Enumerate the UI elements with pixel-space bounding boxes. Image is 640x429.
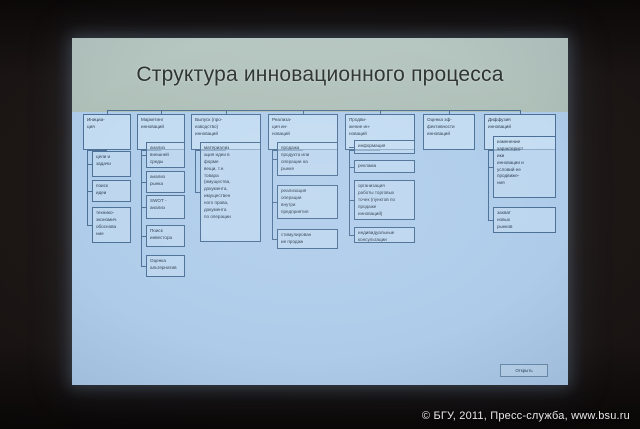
box-text-line: ного права,: [204, 200, 258, 207]
box-text-line: продаже: [358, 204, 412, 211]
header-stem: [161, 110, 162, 114]
box-text-line: продажа: [281, 145, 335, 152]
box-text-line: Выпуск (про-: [195, 117, 258, 124]
item-branch: [87, 191, 92, 192]
diagram-item-box: изменениехарактеристикиинновации иуслови…: [493, 136, 556, 198]
diagram-item-box: индивидуальныеконсультации: [354, 227, 415, 243]
box-text-line: стимулирован: [281, 232, 335, 239]
box-text-line: идеи: [96, 190, 128, 197]
item-branch: [141, 155, 146, 156]
box-text-line: форме: [204, 159, 258, 166]
column-trunk: [141, 150, 142, 266]
box-text-line: анализ: [150, 145, 182, 152]
diagram-item-box: анализвнешнейсреды: [146, 142, 185, 168]
box-text-line: Продви-: [349, 117, 412, 124]
box-text-line: рынка: [150, 181, 182, 188]
diagram-header-box: Инициа-ция: [83, 114, 131, 150]
diagram-item-box: организацияработы торговыхточек (пунктов…: [354, 180, 415, 220]
box-text-line: среды: [150, 159, 182, 166]
item-branch: [141, 266, 146, 267]
box-text-line: изводство): [195, 124, 258, 131]
box-text-line: консультации: [358, 237, 412, 243]
box-text-line: экономич.: [96, 217, 128, 224]
open-button[interactable]: Открыть: [500, 364, 548, 377]
box-text-line: фективности: [427, 124, 472, 131]
diagram-item-box: Поискинвестора: [146, 225, 185, 247]
item-branch: [349, 200, 354, 201]
box-text-line: рынке: [281, 166, 335, 173]
box-text-line: SWOT -: [150, 198, 182, 205]
box-text-line: задачи: [96, 161, 128, 168]
diagram-item-box: поискидеи: [92, 180, 131, 202]
box-text-line: анализ: [150, 205, 182, 212]
box-text-line: инвестора: [150, 235, 182, 242]
box-text-line: ния: [497, 180, 553, 187]
header-stem: [520, 110, 521, 114]
header-stem: [226, 110, 227, 114]
item-branch: [87, 164, 92, 165]
item-branch: [272, 202, 277, 203]
item-branch: [87, 225, 92, 226]
box-text-line: операции на: [281, 159, 335, 166]
box-text-line: реклама: [358, 163, 412, 170]
box-text-line: ация идеи в: [204, 152, 258, 159]
item-branch: [349, 167, 354, 168]
box-text-line: цели и: [96, 154, 128, 161]
item-branch: [141, 207, 146, 208]
diagram-item-box: технико-экономич.обоснование: [92, 207, 131, 243]
box-text-line: характерист: [497, 146, 553, 153]
diagram-item-box: анализрынка: [146, 171, 185, 193]
box-text-line: операции: [281, 195, 335, 202]
box-text-line: продукта или: [281, 152, 335, 159]
diagram-item-box: цели изадачи: [92, 151, 131, 177]
box-text-line: вещи, т.е.: [204, 166, 258, 173]
item-branch: [488, 167, 493, 168]
box-text-line: точек (пунктов по: [358, 197, 412, 204]
box-text-line: ция ин-: [272, 124, 335, 131]
diagram-item-box: продажапродукта илиоперации нарынке: [277, 142, 338, 176]
copyright-caption: © БГУ, 2011, Пресс-служба, www.bsu.ru: [422, 410, 630, 422]
box-text-line: новаций: [272, 131, 335, 138]
column-trunk: [87, 150, 88, 225]
item-branch: [141, 236, 146, 237]
box-text-line: индивидуальные: [358, 230, 412, 237]
box-text-line: инноваций: [427, 131, 472, 138]
header-stem: [107, 110, 108, 114]
box-text-line: ие продаж: [281, 239, 335, 246]
diagram-item-box: стимулирование продаж: [277, 229, 338, 249]
header-stem: [380, 110, 381, 114]
box-text-line: ние: [96, 231, 128, 238]
box-text-line: альтернатив: [150, 265, 182, 272]
box-text-line: Реализа-: [272, 117, 335, 124]
box-text-line: инноваций): [358, 211, 412, 218]
box-text-line: Инициа-: [87, 117, 128, 124]
header-stem: [449, 110, 450, 114]
diagram-item-box: реклама: [354, 160, 415, 173]
diagram-item-box: материализация идеи вформевещи, т.е.това…: [200, 142, 261, 242]
box-text-line: Оценка эф-: [427, 117, 472, 124]
diagram-item-box: Оценкаальтернатив: [146, 255, 185, 277]
item-branch: [272, 159, 277, 160]
box-text-line: внешней: [150, 152, 182, 159]
diagram-item-box: информация: [354, 140, 415, 154]
header-stem: [303, 110, 304, 114]
column-trunk: [488, 150, 489, 220]
box-text-line: анализ: [150, 174, 182, 181]
box-text-line: организация: [358, 183, 412, 190]
box-text-line: технико-: [96, 210, 128, 217]
item-branch: [488, 220, 493, 221]
box-text-line: новых: [497, 217, 553, 224]
box-text-line: по операции: [204, 214, 258, 221]
box-text-line: информация: [358, 143, 412, 150]
box-text-line: новаций: [349, 131, 412, 138]
box-text-line: инновации и: [497, 160, 553, 167]
slide-title: Структура инновационного процесса: [136, 63, 503, 87]
item-branch: [195, 192, 200, 193]
box-text-line: Маркетинг: [141, 117, 182, 124]
box-text-line: документа: [204, 207, 258, 214]
box-text-line: Оценка: [150, 258, 182, 265]
box-text-line: инноваций: [488, 124, 553, 131]
column-trunk: [195, 150, 196, 192]
diagram-top-spine: [107, 110, 520, 111]
projected-slide: Структура инновационного процесса Инициа…: [72, 38, 568, 385]
box-text-line: внутри: [281, 202, 335, 209]
box-text-line: продвиже-: [497, 173, 553, 180]
box-text-line: рынков: [497, 224, 553, 231]
item-branch: [141, 182, 146, 183]
box-text-line: поиск: [96, 183, 128, 190]
diagram-item-box: захватновыхрынков: [493, 207, 556, 233]
slide-title-band: Структура инновационного процесса: [72, 38, 568, 112]
item-branch: [349, 235, 354, 236]
diagram-header-box: Оценка эф-фективностиинноваций: [423, 114, 475, 150]
box-text-line: материализ: [204, 145, 258, 152]
item-branch: [349, 147, 354, 148]
box-text-line: реализация: [281, 188, 335, 195]
box-text-line: предприятия: [281, 209, 335, 216]
box-text-line: Поиск: [150, 228, 182, 235]
box-text-line: Диффузия: [488, 117, 553, 124]
box-text-line: ики: [497, 153, 553, 160]
innovation-process-diagram: Инициа-цияцели изадачипоискидеитехнико-э…: [72, 112, 568, 385]
diagram-item-box: реализацияоперациивнутрипредприятия: [277, 185, 338, 219]
box-text-line: инноваций: [141, 124, 182, 131]
box-text-line: ция: [87, 124, 128, 131]
item-branch: [272, 239, 277, 240]
box-text-line: инноваций: [195, 131, 258, 138]
diagram-item-box: SWOT -анализ: [146, 195, 185, 219]
box-text-line: жение ин-: [349, 124, 412, 131]
column-trunk: [272, 150, 273, 239]
box-text-line: изменение: [497, 139, 553, 146]
box-text-line: обоснова: [96, 224, 128, 231]
box-text-line: работы торговых: [358, 190, 412, 197]
box-text-line: захват: [497, 210, 553, 217]
column-trunk: [349, 150, 350, 235]
